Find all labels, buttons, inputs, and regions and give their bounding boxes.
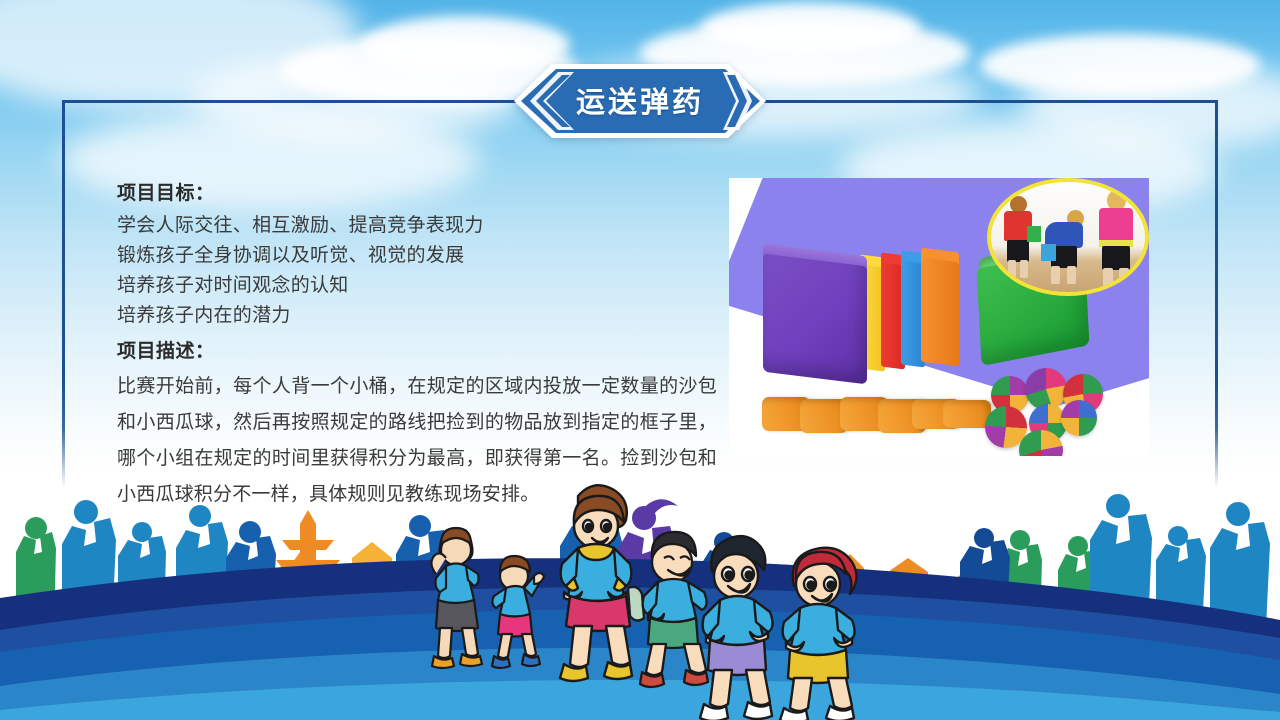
- inset-photo: [987, 178, 1149, 296]
- bin-purple: [763, 254, 867, 385]
- title-banner: 运送弹药: [512, 62, 768, 140]
- cartoon-kid-1: [431, 528, 482, 668]
- cartoon-kid-6: [780, 548, 857, 720]
- equipment-photo: [729, 178, 1149, 456]
- page-title: 运送弹药: [512, 62, 768, 140]
- slide-root: 运送弹药 项目目标： 学会人际交往、相互激励、提高竞争表现力 锻炼孩子全身协调以…: [0, 0, 1280, 720]
- inset-kid: [1001, 196, 1037, 282]
- cartoon-kid-4: [640, 532, 708, 687]
- description-heading: 项目描述：: [117, 336, 717, 363]
- objective-line: 锻炼孩子全身协调以及听觉、视觉的发展: [117, 240, 717, 270]
- cartoon-kid-2: [492, 556, 544, 668]
- cartoon-kid-3: [560, 485, 644, 681]
- objective-heading: 项目目标：: [117, 178, 717, 205]
- objective-line: 培养孩子对时间观念的认知: [117, 270, 717, 300]
- cartoon-kids-group: [400, 470, 900, 720]
- objective-section: 项目目标： 学会人际交往、相互激励、提高竞争表现力 锻炼孩子全身协调以及听觉、视…: [117, 178, 717, 330]
- objective-line: 培养孩子内在的潜力: [117, 300, 717, 330]
- inset-kid: [1095, 190, 1139, 292]
- cartoon-kid-5: [700, 536, 773, 720]
- objective-line: 学会人际交往、相互激励、提高竞争表现力: [117, 210, 717, 240]
- inset-kid: [1043, 210, 1087, 288]
